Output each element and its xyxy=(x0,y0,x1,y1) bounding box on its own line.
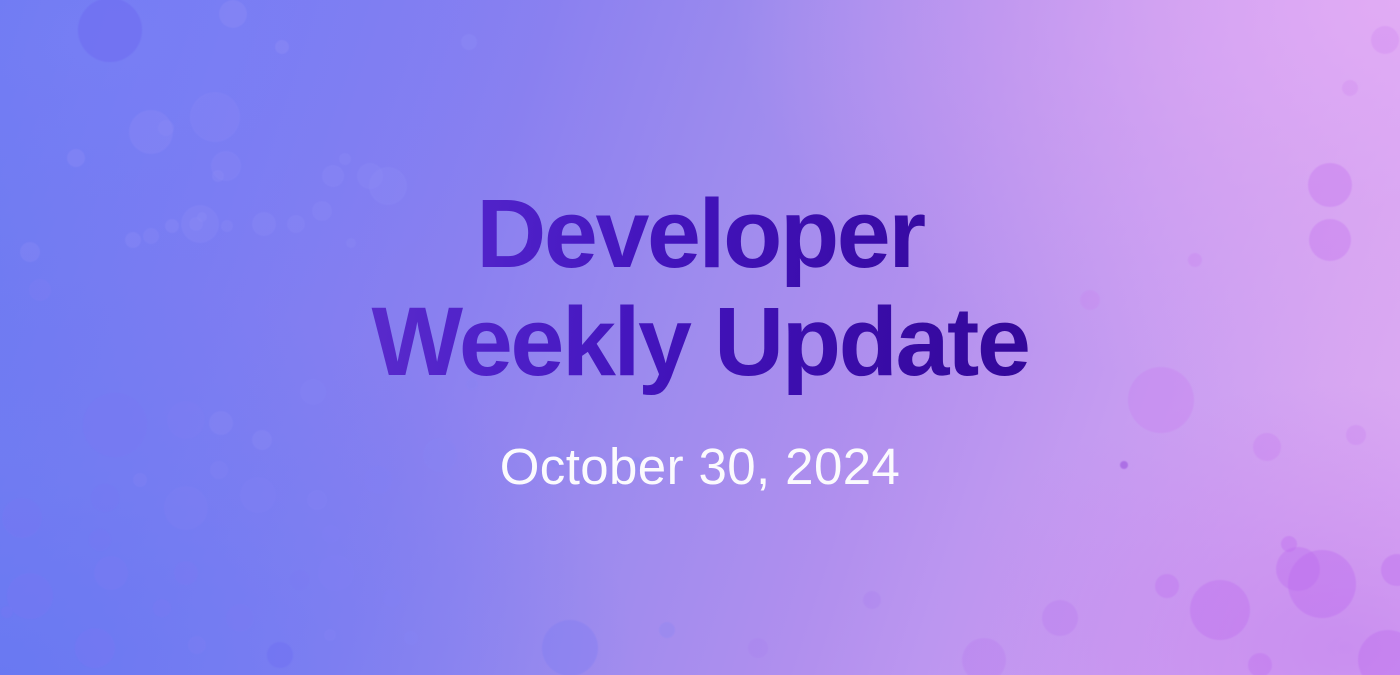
banner-content: Developer Weekly Update October 30, 2024 xyxy=(0,0,1400,675)
page-title: Developer Weekly Update xyxy=(371,180,1028,397)
hero-banner: Developer Weekly Update October 30, 2024 xyxy=(0,0,1400,675)
page-title-line-2: Weekly Update xyxy=(371,288,1028,397)
page-title-line-1: Developer xyxy=(371,180,1028,289)
issue-date: October 30, 2024 xyxy=(500,439,901,495)
